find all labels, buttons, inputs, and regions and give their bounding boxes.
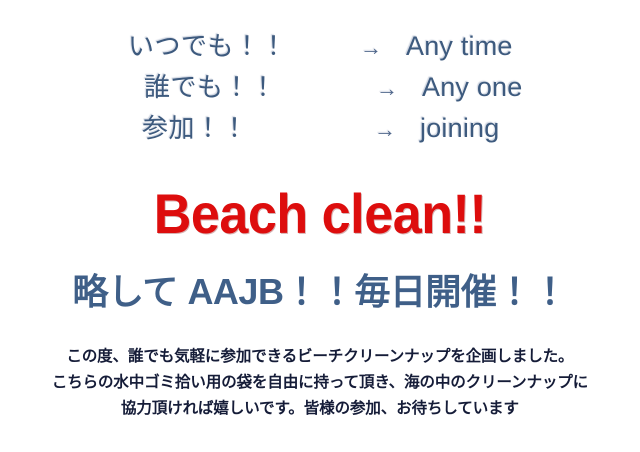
slogan-english-text: Any one — [422, 72, 522, 103]
body-line: 協力頂ければ嬉しいです。皆様の参加、お待ちしています — [0, 396, 640, 422]
arrow-right-icon: → — [352, 76, 422, 102]
slogan-japanese-text: 参加！！ — [128, 108, 350, 145]
arrow-right-icon: → — [350, 117, 420, 143]
arrow-right-icon: → — [336, 35, 406, 61]
slogan-row: 誰でも！！ → Any one — [128, 67, 640, 108]
poster-canvas: いつでも！！ → Any time 誰でも！！ → Any one 参加！！ →… — [0, 0, 640, 452]
poster-body-text: この度、誰でも気軽に参加できるビーチクリーンナップを企画しました。 こちらの水中… — [0, 344, 640, 422]
slogan-list: いつでも！！ → Any time 誰でも！！ → Any one 参加！！ →… — [0, 26, 640, 149]
poster-subheadline: 略して AAJB！！毎日開催！！ — [0, 272, 640, 312]
slogan-english-text: Any time — [406, 31, 513, 62]
slogan-english-text: joining — [420, 113, 499, 144]
poster-headline: Beach clean!! — [22, 186, 617, 242]
slogan-row: 参加！！ → joining — [128, 108, 640, 149]
slogan-row: いつでも！！ → Any time — [128, 26, 640, 67]
body-line: こちらの水中ゴミ拾い用の袋を自由に持って頂き、海の中のクリーンナップに — [0, 370, 640, 396]
slogan-japanese-text: 誰でも！！ — [128, 67, 352, 104]
slogan-japanese-text: いつでも！！ — [128, 26, 336, 63]
body-line: この度、誰でも気軽に参加できるビーチクリーンナップを企画しました。 — [0, 344, 640, 370]
